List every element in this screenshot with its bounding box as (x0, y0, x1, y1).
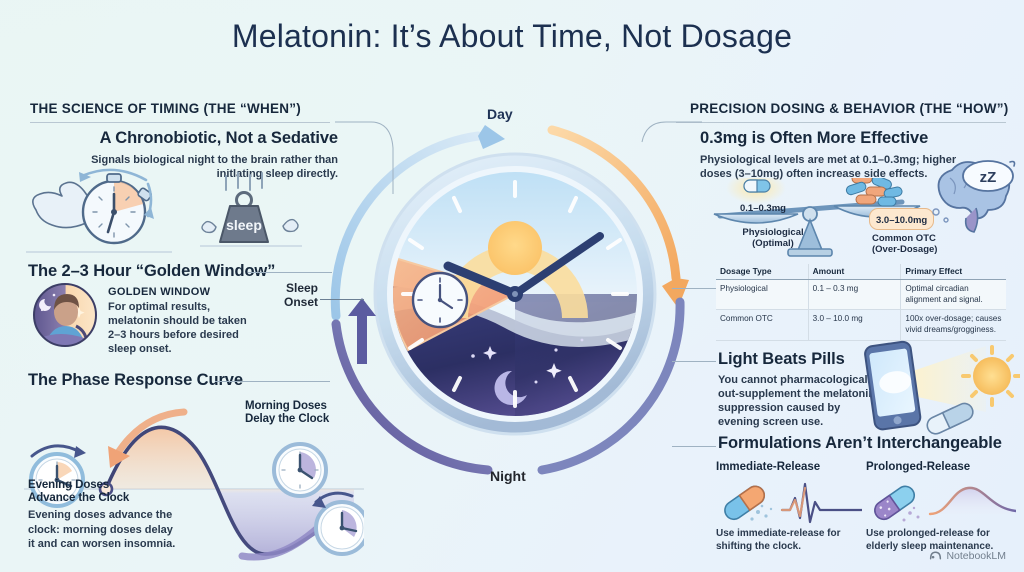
left-column-header-rule (30, 122, 330, 123)
sleep-onset-line2: Onset (258, 296, 318, 310)
sleeping-brain-icon: zZ (932, 160, 1020, 234)
sleep-onset-label: Sleep Onset (258, 282, 318, 310)
sleep-weight-label: sleep (226, 217, 262, 233)
scale-left-label: Physiological (Optimal) (728, 228, 818, 250)
prolonged-release-icon (864, 478, 1016, 528)
scale-left-amount: 0.1–0.3mg (740, 198, 786, 216)
golden-window-avatar-icon (32, 282, 98, 348)
golden-window-card-body: For optimal results, melatonin should be… (108, 300, 258, 356)
dose-effectiveness-connector (634, 118, 704, 144)
prc-evening-line2: Advance the Clock (28, 492, 188, 505)
table-row: Physiological 0.1 – 0.3 mg Optimal circa… (716, 280, 1006, 310)
light-beats-pills-body: You cannot pharmacologically out-supplem… (718, 373, 878, 429)
prc-body: Evening doses advance the clock: morning… (28, 508, 178, 550)
prc-morning-line1: Morning Doses (245, 400, 365, 413)
golden-window-heading: The 2–3 Hour “Golden Window” (28, 262, 275, 281)
sleep-onset-connector (320, 299, 364, 300)
prolonged-release-title: Prolonged-Release (866, 461, 1016, 473)
hand-turning-clock-icon (22, 160, 182, 255)
dosage-row-0-effect: Optimal circadian alignment and signal. (901, 280, 1006, 310)
prc-heading: The Phase Response Curve (28, 371, 243, 390)
dosage-table: Dosage Type Amount Primary Effect Physio… (716, 264, 1006, 341)
day-label-group: Day (487, 106, 513, 122)
prc-evening-line1: Evening Doses (28, 479, 188, 492)
golden-window-card-title: GOLDEN WINDOW (108, 286, 258, 298)
page-title: Melatonin: It’s About Time, Not Dosage (0, 18, 1024, 55)
dosage-table-col-1: Amount (808, 264, 901, 280)
notebooklm-watermark-label: NotebookLM (946, 550, 1006, 562)
immediate-release-caption: Use immediate-release for shifting the c… (716, 528, 856, 553)
night-label: Night (490, 468, 526, 484)
sleep-weight-icon: sleep (196, 172, 306, 254)
immediate-release-icon (714, 478, 862, 528)
prc-morning-line2: Delay the Clock (245, 413, 365, 426)
sleep-onset-line1: Sleep (258, 282, 318, 296)
right-column-header: PRECISION DOSING & BEHAVIOR (THE “HOW”) (690, 101, 1009, 116)
dosage-row-0-type: Physiological (716, 280, 808, 310)
dosage-table-col-0: Dosage Type (716, 264, 808, 280)
light-beats-pills-connector (672, 361, 716, 362)
formulation-prolonged-release: Prolonged-Release (866, 461, 1016, 473)
golden-window-card-text: GOLDEN WINDOW For optimal results, melat… (108, 286, 258, 356)
chronobiotic-heading: A Chronobiotic, Not a Sedative (60, 129, 338, 148)
dose-effectiveness-heading: 0.3mg is Often More Effective (700, 129, 1000, 148)
notebooklm-logo-icon (929, 549, 942, 562)
phone-sun-pill-icon (860, 338, 1020, 438)
formulations-heading: Formulations Aren’t Interchangeable (718, 434, 1002, 453)
chronobiotic-connector (335, 118, 395, 198)
dosage-table-connector (672, 288, 716, 289)
scale-right-label: Common OTC (Over-Dosage) (872, 234, 937, 256)
dosage-row-1-type: Common OTC (716, 310, 808, 340)
dosage-table-header-row: Dosage Type Amount Primary Effect (716, 264, 1006, 280)
scale-left-label-line2: (Optimal) (728, 239, 818, 250)
notebooklm-watermark: NotebookLM (929, 549, 1006, 562)
formulations-connector (672, 446, 716, 447)
left-column-header: THE SCIENCE OF TIMING (THE “WHEN”) (30, 101, 301, 116)
prc-morning-label: Morning Doses Delay the Clock (245, 400, 365, 426)
prc-evening-label: Evening Doses Advance the Clock Evening … (28, 479, 188, 551)
formulation-immediate-release: Immediate-Release (716, 461, 860, 473)
dosage-table-col-2: Primary Effect (901, 264, 1006, 280)
golden-window-connector (248, 272, 332, 273)
prc-connector (215, 381, 330, 382)
brain-zzz-text: zZ (980, 169, 997, 186)
immediate-release-title: Immediate-Release (716, 461, 860, 473)
day-label: Day (487, 106, 513, 122)
night-label-group: Night (490, 468, 526, 484)
infographic-root: Melatonin: It’s About Time, Not Dosage T… (0, 0, 1024, 572)
dosage-row-1-amount: 3.0 – 10.0 mg (808, 310, 901, 340)
scale-right-amount: 3.0–10.0mg (869, 208, 934, 230)
dosage-row-0-amount: 0.1 – 0.3 mg (808, 280, 901, 310)
dosage-row-1-effect: 100x over-dosage; causes vivid dreams/gr… (901, 310, 1006, 340)
table-row: Common OTC 3.0 – 10.0 mg 100x over-dosag… (716, 310, 1006, 340)
scale-right-label-line2: (Over-Dosage) (872, 245, 937, 256)
